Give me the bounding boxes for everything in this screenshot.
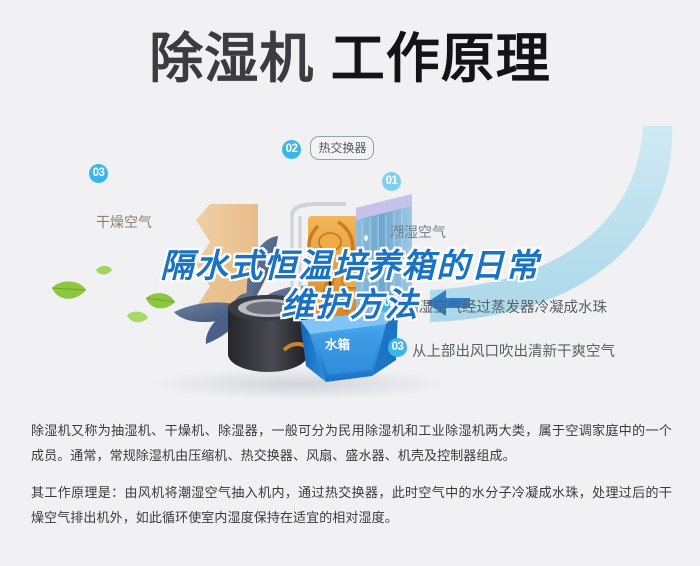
label-dry-air: 干燥空气 <box>96 212 152 232</box>
badge-02-heat-exchanger: 02 <box>282 140 301 159</box>
leaf-icon-group <box>52 266 175 322</box>
label-step-02: 潮湿空气经过蒸发器冷凝成水珠 <box>404 296 607 317</box>
body-paragraph-1: 除湿机又称为抽湿机、干燥机、除湿器，一般可分为民用除湿机和工业除湿机两大类，属于… <box>31 418 672 468</box>
page-title: 除湿机 工作原理 <box>0 26 700 92</box>
label-step-03: 从上部出风口吹出清新干爽空气 <box>412 340 615 361</box>
page-title-part2: 工作原理 <box>331 29 551 89</box>
badge-03-step: 03 <box>388 338 407 357</box>
ground-shadow <box>150 368 450 400</box>
compressor <box>228 295 308 372</box>
badge-02-step: 02 <box>380 294 399 313</box>
badge-01-humid-air: 01 <box>382 172 401 191</box>
humid-air-arrow <box>430 126 672 322</box>
page-root: 除湿机 工作原理 <box>0 0 700 566</box>
label-humid-air: 潮湿空气 <box>390 222 446 242</box>
label-water-tank: 水箱 <box>325 334 350 353</box>
badge-03-dry-air: 03 <box>89 164 108 183</box>
body-copy: 除湿机又称为抽湿机、干燥机、除湿器，一般可分为民用除湿机和工业除湿机两大类，属于… <box>31 418 672 530</box>
dehumidifier-diagram: 03 干燥空气 02 热交换器 01 潮湿空气 水箱 02 潮湿空气经过蒸发器冷… <box>0 112 700 402</box>
label-heat-exchanger: 热交换器 <box>310 136 374 160</box>
label-heat-exchanger-group: 02 热交换器 <box>282 136 374 160</box>
body-paragraph-2: 其工作原理是：由风机将潮湿空气抽入机内，通过热交换器，此时空气中的水分子冷凝成水… <box>31 480 672 530</box>
page-title-part1: 除湿机 <box>149 29 314 89</box>
